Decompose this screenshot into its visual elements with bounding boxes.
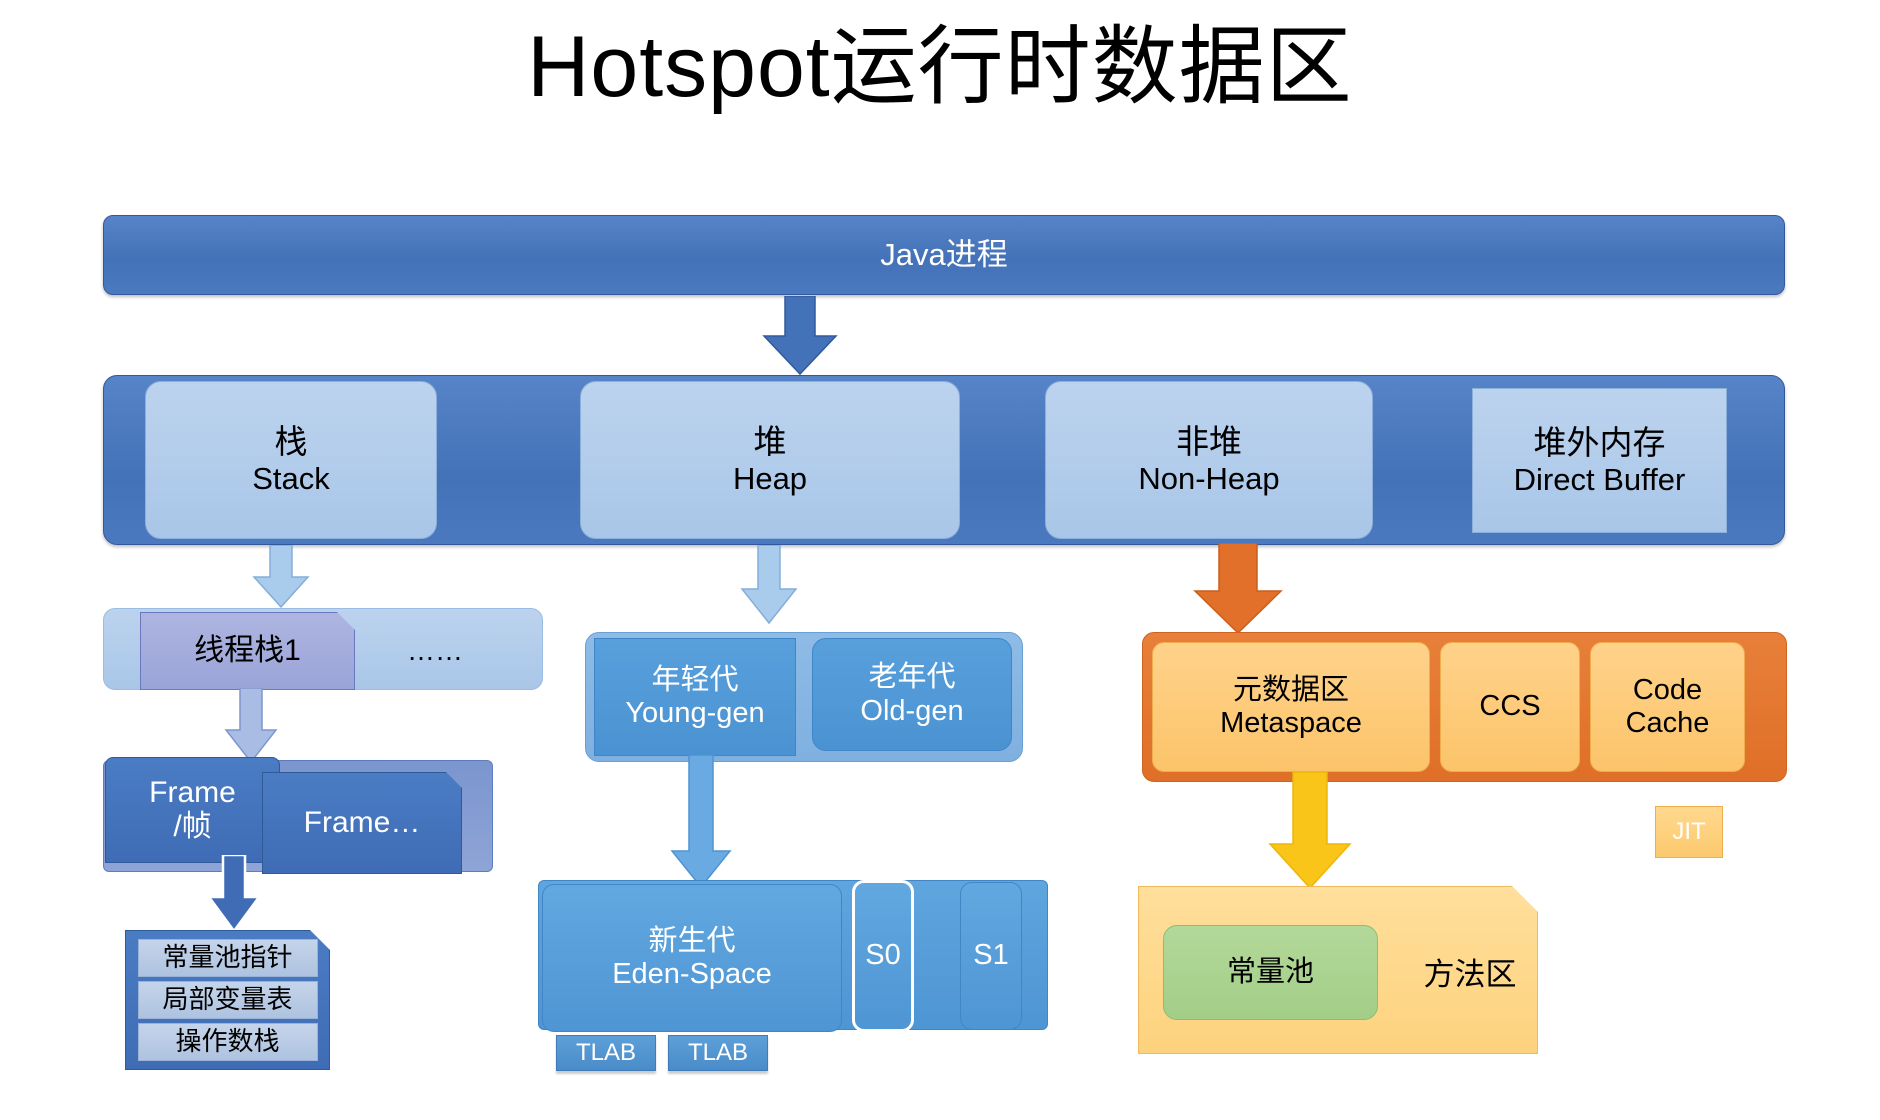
compressed-class-space[interactable]: CCS [1440,642,1580,772]
frame-part-local-variable-table[interactable]: 局部变量表 [138,981,318,1019]
area-non-heap[interactable]: 非堆 Non-Heap [1045,381,1373,539]
java-process-bar[interactable]: Java进程 [103,215,1785,295]
area-stack[interactable]: 栈 Stack [145,381,437,539]
method-area-label-wrap: 方法区 [1400,955,1540,995]
frame-parts-container: 常量池指针 局部变量表 操作数栈 [125,930,330,1070]
survivor-space-1-label: S1 [973,939,1008,972]
frame-more[interactable]: Frame… [262,772,462,874]
eden-space-en: Eden-Space [612,958,772,991]
old-generation[interactable]: 老年代 Old-gen [812,638,1012,751]
frame-current[interactable]: Frame /帧 [105,757,280,863]
method-area-label: 方法区 [1424,957,1517,993]
arrow-process-to-areas-icon [758,296,842,376]
compressed-class-space-label: CCS [1479,690,1540,723]
eden-space[interactable]: 新生代 Eden-Space [542,884,842,1032]
diagram-canvas: Hotspot运行时数据区 Java进程 栈 Stack 堆 Heap 非堆 N… [0,0,1880,1120]
frame-part-operand-stack[interactable]: 操作数栈 [138,1023,318,1061]
arrow-stack-to-threads-icon [250,545,312,609]
code-cache[interactable]: Code Cache [1590,642,1745,772]
arrow-heap-to-generations-icon [738,545,800,625]
metaspace[interactable]: 元数据区 Metaspace [1152,642,1430,772]
tlab-0-label: TLAB [576,1039,636,1067]
survivor-space-1[interactable]: S1 [960,882,1022,1030]
area-non-heap-en: Non-Heap [1138,461,1279,497]
area-stack-en: Stack [252,461,330,497]
frame-current-label-cn: /帧 [149,810,236,845]
young-generation-en: Young-gen [625,697,764,730]
tlab-1-label: TLAB [688,1039,748,1067]
page-title: Hotspot运行时数据区 [0,18,1880,117]
young-generation[interactable]: 年轻代 Young-gen [594,638,796,756]
thread-stack-1[interactable]: 线程栈1 [140,612,355,690]
arrow-frame-to-parts-icon [205,855,263,933]
metaspace-en: Metaspace [1220,707,1362,740]
runtime-constant-pool[interactable]: 常量池 [1163,925,1378,1020]
frame-current-label-en: Frame [149,776,236,811]
java-process-label: Java进程 [880,237,1007,273]
arrow-thread-to-frame-icon [222,688,280,764]
thread-stack-1-label: 线程栈1 [194,634,301,669]
frame-part-constant-pool-pointer[interactable]: 常量池指针 [138,939,318,977]
area-direct-buffer-en: Direct Buffer [1514,462,1686,498]
tlab-1[interactable]: TLAB [668,1035,768,1071]
area-direct-buffer[interactable]: 堆外内存 Direct Buffer [1472,388,1727,533]
old-generation-cn: 老年代 [860,661,963,694]
metaspace-cn: 元数据区 [1220,674,1362,707]
survivor-space-0-label: S0 [865,939,900,972]
thread-stacks-ellipsis-label: …… [407,635,463,667]
area-heap-en: Heap [733,461,807,497]
area-direct-buffer-cn: 堆外内存 [1514,424,1686,462]
arrow-metaspace-to-method-area-icon [1265,772,1355,890]
runtime-constant-pool-label: 常量池 [1227,956,1314,989]
frame-more-label: Frame… [304,806,421,841]
area-stack-cn: 栈 [252,423,330,461]
code-cache-label-line1: Code [1626,674,1710,707]
arrow-young-to-eden-icon [668,755,734,889]
area-heap[interactable]: 堆 Heap [580,381,960,539]
tlab-0[interactable]: TLAB [556,1035,656,1071]
area-non-heap-cn: 非堆 [1138,423,1279,461]
jit-badge[interactable]: JIT [1655,806,1723,858]
thread-stacks-ellipsis: …… [370,612,500,690]
frame-part-2-label: 操作数栈 [175,1027,279,1057]
survivor-space-0[interactable]: S0 [852,880,914,1032]
jit-badge-label: JIT [1672,818,1705,846]
young-generation-cn: 年轻代 [625,664,764,697]
code-cache-label-line2: Cache [1626,707,1710,740]
frame-part-0-label: 常量池指针 [162,943,292,973]
area-heap-cn: 堆 [733,423,807,461]
old-generation-en: Old-gen [860,695,963,728]
frame-part-1-label: 局部变量表 [162,985,292,1015]
arrow-nonheap-to-metaspace-icon [1188,543,1288,635]
eden-space-cn: 新生代 [612,925,772,958]
